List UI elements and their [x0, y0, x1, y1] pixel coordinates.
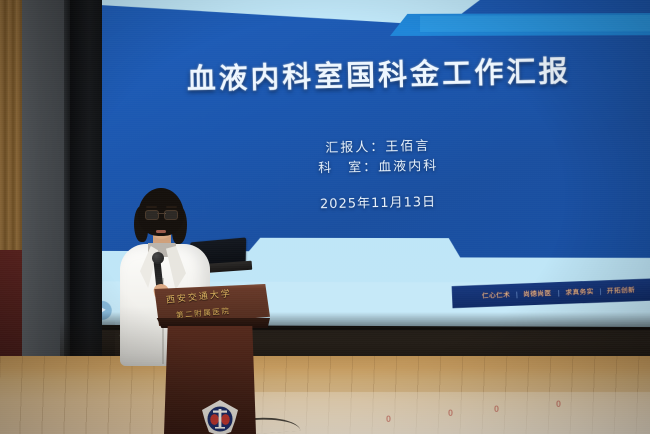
lens-left [145, 210, 159, 220]
motto-separator-2: | [558, 290, 560, 297]
eyeglasses-icon [145, 210, 178, 219]
floor-marking: 0 [386, 414, 391, 424]
floor-marking: 0 [556, 399, 561, 409]
floor-marking: 0 [448, 408, 453, 418]
motto-item-3: 求真务实 [565, 287, 594, 298]
motto-item-2: 尚德尚医 [523, 289, 552, 300]
podium-body [164, 326, 256, 434]
slide-shape-top-right-accent [420, 15, 650, 32]
motto-separator-3: | [599, 288, 601, 295]
presentation-photo: 血液内科室国科金工作汇报 汇报人：王佰言 科 室：血液内科 2025年11月13… [0, 0, 650, 434]
lens-right [164, 210, 178, 220]
motto-item-1: 仁心仁术 [482, 290, 511, 301]
eyebrow-right [166, 206, 177, 208]
eyebrow-left [146, 206, 157, 208]
motto-separator-1: | [516, 291, 518, 298]
motto-item-4: 开拓创新 [607, 285, 636, 296]
university-emblem [198, 398, 242, 434]
floor-marking: 0 [494, 404, 499, 414]
microphone-icon [152, 252, 164, 264]
speaker-mouth [156, 230, 166, 233]
podium: 西安交通大学 第二附属医院 [152, 284, 270, 434]
